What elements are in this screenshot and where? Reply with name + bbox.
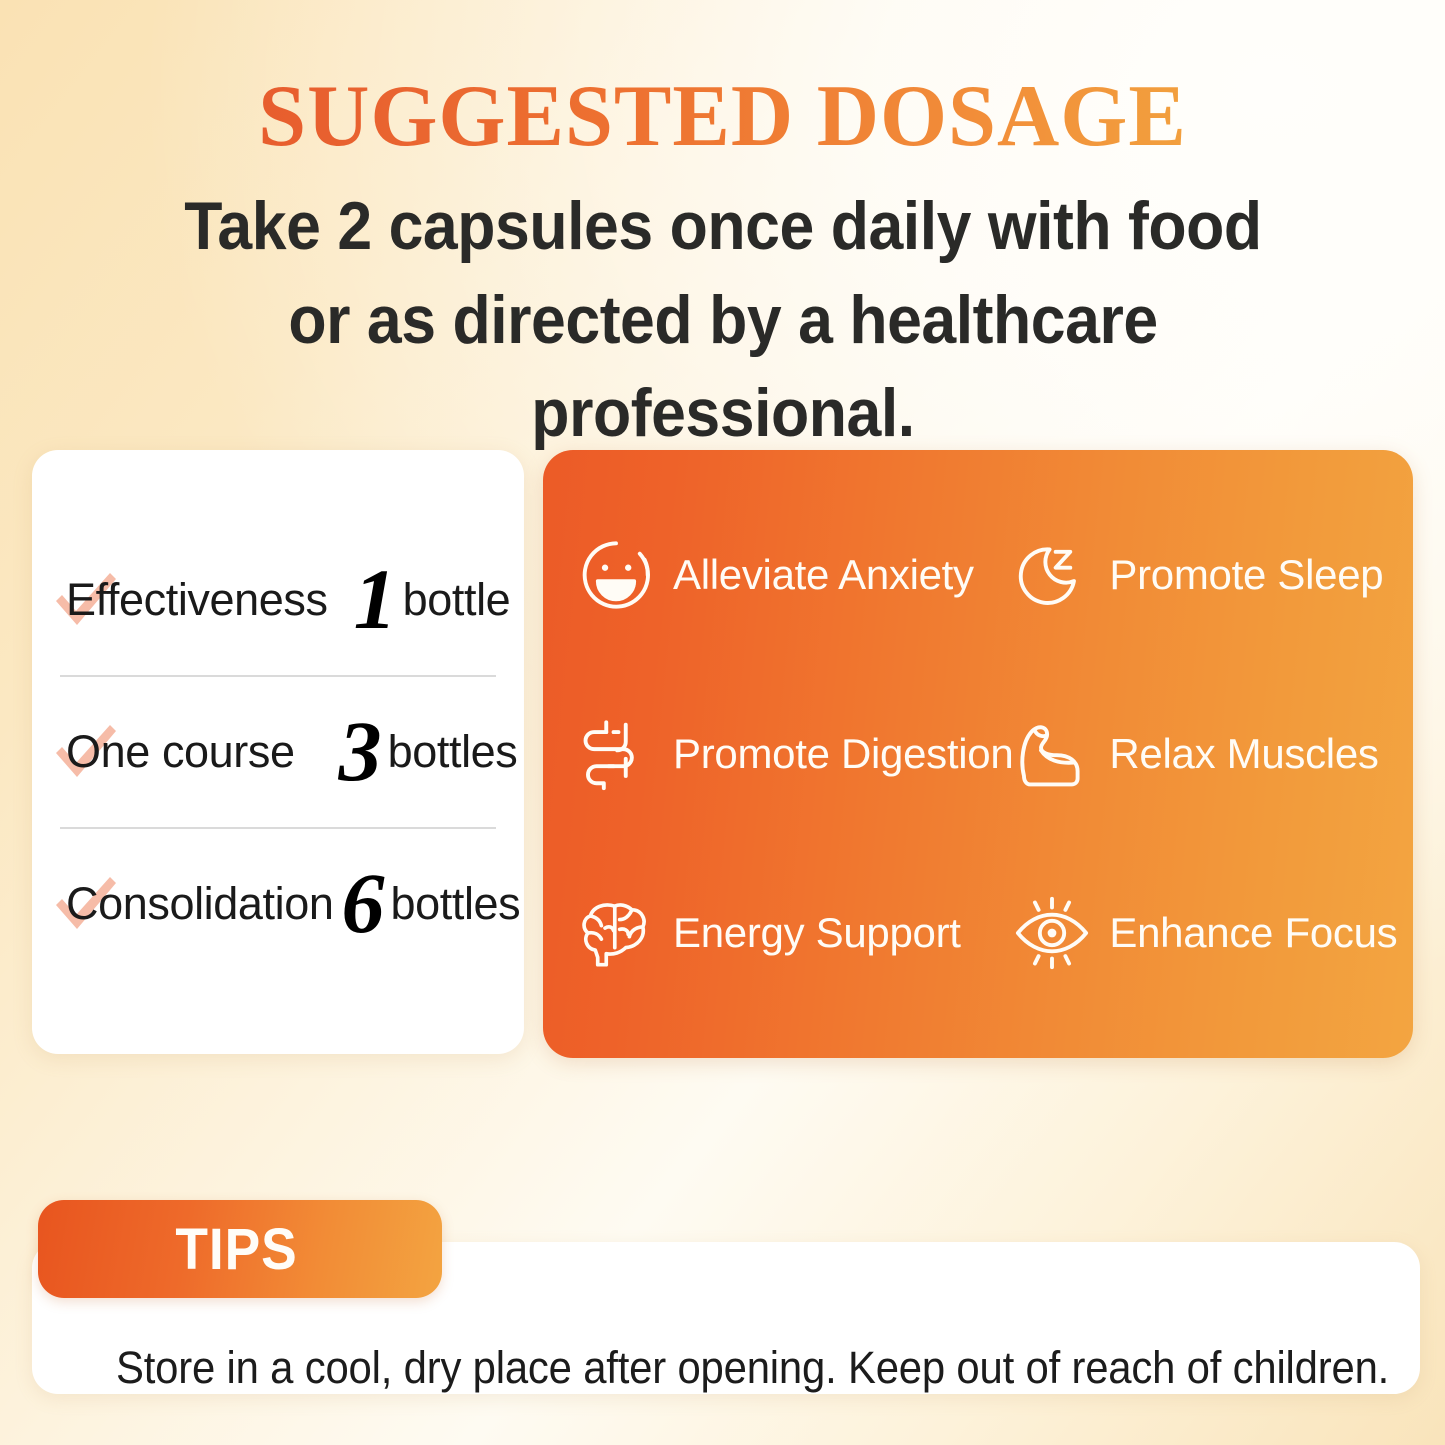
dosage-number: 3 — [339, 713, 382, 790]
benefit-promote-digestion: Promote Digestion — [577, 715, 1013, 793]
tips-section: Store in a cool, dry place after opening… — [0, 1200, 1445, 1400]
benefit-alleviate-anxiety: Alleviate Anxiety — [577, 536, 1013, 614]
dosage-unit: bottles — [388, 726, 518, 778]
flexed-bicep-icon — [1013, 715, 1091, 793]
benefit-energy-support: Energy Support — [577, 894, 1013, 972]
smiley-face-icon — [577, 536, 655, 614]
benefit-label: Promote Sleep — [1109, 551, 1383, 599]
dosage-row-effectiveness: Effectiveness 1 bottle — [32, 525, 524, 675]
page-subtitle: Take 2 capsules once daily with food or … — [148, 180, 1298, 461]
moon-sleep-icon — [1013, 536, 1091, 614]
tips-text: Store in a cool, dry place after opening… — [116, 1342, 1325, 1394]
benefit-promote-sleep: Promote Sleep — [1013, 536, 1397, 614]
dosage-row-consolidation: Consolidation 6 bottles — [32, 829, 524, 979]
benefit-label: Alleviate Anxiety — [673, 551, 974, 599]
dosage-label: One course — [66, 726, 295, 778]
benefit-label: Energy Support — [673, 909, 961, 957]
benefit-label: Relax Muscles — [1109, 730, 1378, 778]
benefit-enhance-focus: Enhance Focus — [1013, 894, 1397, 972]
benefit-label: Promote Digestion — [673, 730, 1013, 778]
benefit-label: Enhance Focus — [1109, 909, 1397, 957]
dosage-row-one-course: One course 3 bottles — [32, 677, 524, 827]
page-title: SUGGESTED DOSAGE — [14, 72, 1430, 162]
dosage-schedule-card: Effectiveness 1 bottle One course 3 bott… — [32, 450, 524, 1054]
page-header: SUGGESTED DOSAGE Take 2 capsules once da… — [0, 0, 1445, 461]
dosage-unit: bottles — [390, 878, 520, 930]
cards-row: Effectiveness 1 bottle One course 3 bott… — [0, 450, 1445, 1060]
dosage-number: 1 — [354, 561, 397, 638]
dosage-unit: bottle — [403, 574, 511, 626]
brain-icon — [577, 894, 655, 972]
tips-badge: TIPS — [38, 1200, 442, 1298]
intestine-icon — [577, 715, 655, 793]
benefit-relax-muscles: Relax Muscles — [1013, 715, 1397, 793]
benefits-panel: Alleviate Anxiety Promote Sleep — [543, 450, 1413, 1058]
eye-focus-icon — [1013, 894, 1091, 972]
dosage-label: Consolidation — [66, 878, 333, 930]
dosage-label: Effectiveness — [66, 574, 328, 626]
tips-badge-label: TIPS — [175, 1216, 297, 1283]
dosage-number: 6 — [341, 865, 384, 942]
